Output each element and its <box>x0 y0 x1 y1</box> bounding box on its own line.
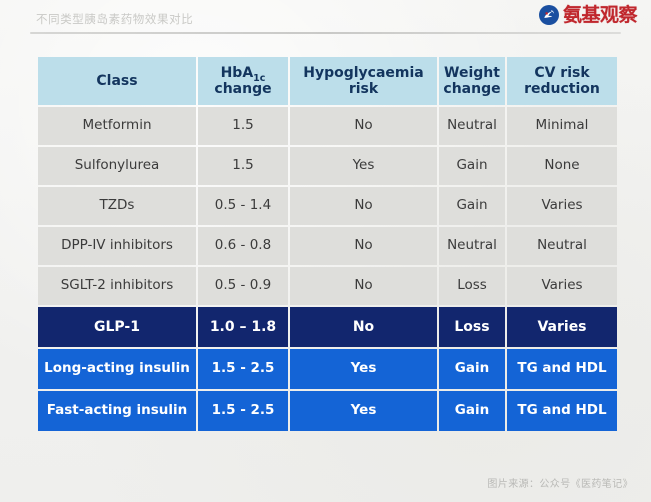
drug-comparison-table: Class HbA1c change Hypoglycaemia risk We… <box>36 55 619 433</box>
column-header-hypoglycaemia-risk: Hypoglycaemia risk <box>290 57 437 105</box>
cell-hypoglycaemia-risk: No <box>290 267 437 305</box>
table-row: Fast-acting insulin1.5 - 2.5YesGainTG an… <box>38 391 617 431</box>
cell-weight-change: Loss <box>439 267 505 305</box>
cell-class: Fast-acting insulin <box>38 391 196 431</box>
cell-cv-risk-reduction: None <box>507 147 617 185</box>
cell-weight-change: Gain <box>439 187 505 225</box>
brand-name: 氨基观察 <box>563 4 637 26</box>
cell-cv-risk-reduction: Varies <box>507 307 617 347</box>
column-header-hba1c-change: HbA1c change <box>198 57 288 105</box>
cell-cv-risk-reduction: TG and HDL <box>507 349 617 389</box>
cell-hypoglycaemia-risk: Yes <box>290 391 437 431</box>
cell-cv-risk-reduction: Varies <box>507 267 617 305</box>
column-header-cv-risk-reduction: CV risk reduction <box>507 57 617 105</box>
cell-hba1c-change: 1.5 <box>198 107 288 145</box>
table-row: Metformin1.5NoNeutralMinimal <box>38 107 617 145</box>
table-row: Long-acting insulin1.5 - 2.5YesGainTG an… <box>38 349 617 389</box>
cell-weight-change: Loss <box>439 307 505 347</box>
column-header-hypo-line2: risk <box>349 81 378 97</box>
header-divider <box>30 32 621 34</box>
cell-hba1c-change: 1.5 <box>198 147 288 185</box>
cell-cv-risk-reduction: Minimal <box>507 107 617 145</box>
column-header-class: Class <box>38 57 196 105</box>
column-header-hba1c-line2: change <box>214 81 271 97</box>
cell-cv-risk-reduction: Varies <box>507 187 617 225</box>
column-header-cv-line1: CV risk <box>534 65 589 81</box>
table-body: Metformin1.5NoNeutralMinimalSulfonylurea… <box>38 107 617 431</box>
cell-weight-change: Gain <box>439 349 505 389</box>
cell-hba1c-change: 1.5 - 2.5 <box>198 349 288 389</box>
table-header-row-group: Class HbA1c change Hypoglycaemia risk We… <box>38 57 617 105</box>
cell-hba1c-change: 1.0 – 1.8 <box>198 307 288 347</box>
column-header-weight-line2: change <box>443 81 500 97</box>
cell-weight-change: Neutral <box>439 107 505 145</box>
cell-cv-risk-reduction: TG and HDL <box>507 391 617 431</box>
image-source-credit: 图片来源：公众号《医药笔记》 <box>487 475 633 490</box>
cell-class: GLP-1 <box>38 307 196 347</box>
column-header-weight-line1: Weight <box>444 65 500 81</box>
page-title: 不同类型胰岛素药物效果对比 <box>36 11 193 27</box>
cell-class: Metformin <box>38 107 196 145</box>
table-row: TZDs0.5 - 1.4NoGainVaries <box>38 187 617 225</box>
cell-hypoglycaemia-risk: No <box>290 307 437 347</box>
cell-hypoglycaemia-risk: No <box>290 107 437 145</box>
cell-hba1c-change: 1.5 - 2.5 <box>198 391 288 431</box>
column-header-weight-change: Weight change <box>439 57 505 105</box>
brand-logo: 氨基观察 <box>538 4 637 26</box>
cell-hba1c-change: 0.5 - 0.9 <box>198 267 288 305</box>
table-row: Sulfonylurea1.5YesGainNone <box>38 147 617 185</box>
table-row: GLP-11.0 – 1.8NoLossVaries <box>38 307 617 347</box>
cell-hypoglycaemia-risk: Yes <box>290 349 437 389</box>
cell-weight-change: Neutral <box>439 227 505 265</box>
blue-circle-swirl-logo-icon <box>538 4 560 26</box>
cell-class: DPP-IV inhibitors <box>38 227 196 265</box>
comparison-table-container: Class HbA1c change Hypoglycaemia risk We… <box>36 55 615 433</box>
cell-hba1c-change: 0.5 - 1.4 <box>198 187 288 225</box>
column-header-hypo-line1: Hypoglycaemia <box>303 65 424 81</box>
page-header: 不同类型胰岛素药物效果对比 氨基观察 <box>0 0 651 36</box>
cell-hypoglycaemia-risk: Yes <box>290 147 437 185</box>
column-header-cv-line2: reduction <box>524 81 600 97</box>
cell-hba1c-change: 0.6 - 0.8 <box>198 227 288 265</box>
column-header-class-label: Class <box>96 73 137 89</box>
column-header-hba1c-main: HbA <box>221 65 254 81</box>
cell-class: Long-acting insulin <box>38 349 196 389</box>
cell-class: Sulfonylurea <box>38 147 196 185</box>
cell-class: SGLT-2 inhibitors <box>38 267 196 305</box>
cell-class: TZDs <box>38 187 196 225</box>
cell-weight-change: Gain <box>439 147 505 185</box>
table-header-row: Class HbA1c change Hypoglycaemia risk We… <box>38 57 617 105</box>
table-row: SGLT-2 inhibitors0.5 - 0.9NoLossVaries <box>38 267 617 305</box>
cell-hypoglycaemia-risk: No <box>290 187 437 225</box>
cell-hypoglycaemia-risk: No <box>290 227 437 265</box>
cell-cv-risk-reduction: Neutral <box>507 227 617 265</box>
cell-weight-change: Gain <box>439 391 505 431</box>
table-row: DPP-IV inhibitors0.6 - 0.8NoNeutralNeutr… <box>38 227 617 265</box>
